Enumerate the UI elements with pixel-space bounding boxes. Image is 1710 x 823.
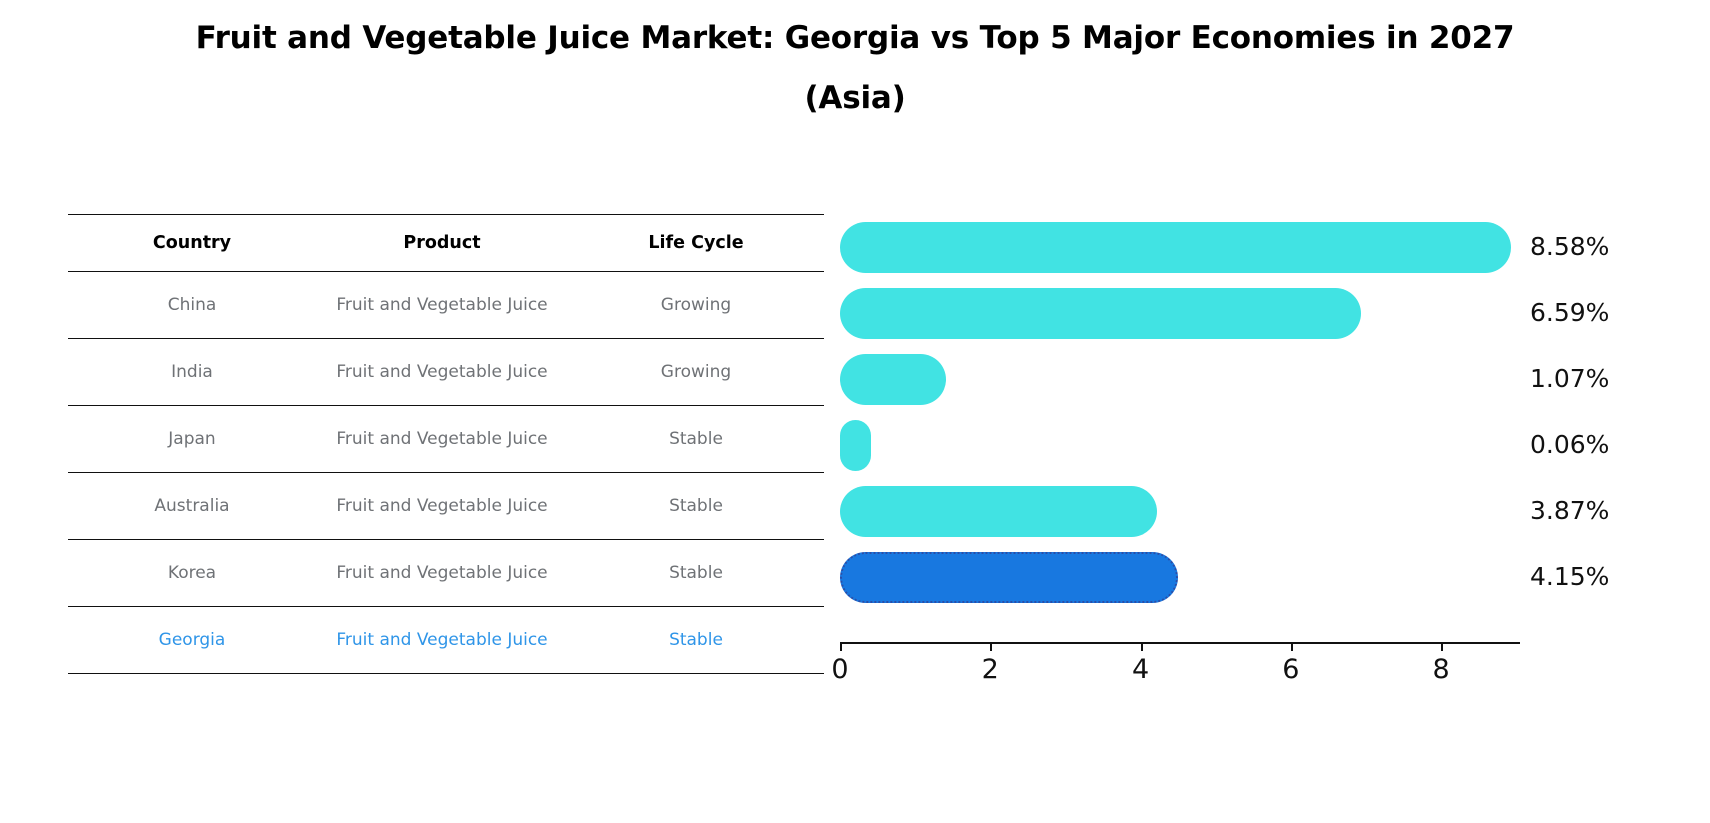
- cell-product: Fruit and Vegetable Juice: [316, 630, 568, 650]
- bar-row: 4.15%: [840, 544, 1710, 610]
- page-title-line-1: Fruit and Vegetable Juice Market: Georgi…: [0, 8, 1710, 68]
- table-row[interactable]: China Fruit and Vegetable Juice Growing: [68, 272, 824, 338]
- x-axis: 02468: [840, 642, 1520, 702]
- cell-life-cycle: Stable: [568, 630, 824, 650]
- country-table: Country Product Life Cycle China Fruit a…: [68, 214, 824, 674]
- bar[interactable]: [840, 420, 871, 471]
- bar-row: 0.06%: [840, 412, 1710, 478]
- bar-value-label: 3.87%: [1530, 478, 1609, 544]
- cell-country: Australia: [68, 496, 316, 516]
- column-header-country: Country: [68, 233, 316, 253]
- x-axis-tick-label: 6: [1282, 654, 1299, 685]
- cell-product: Fruit and Vegetable Juice: [316, 429, 568, 449]
- x-axis-tick-label: 4: [1132, 654, 1149, 685]
- page-title: Fruit and Vegetable Juice Market: Georgi…: [0, 8, 1710, 128]
- x-axis-tick: [1291, 642, 1293, 651]
- cell-life-cycle: Growing: [568, 295, 824, 315]
- cell-product: Fruit and Vegetable Juice: [316, 295, 568, 315]
- bar-value-label: 1.07%: [1530, 346, 1609, 412]
- bar-row: 3.87%: [840, 478, 1710, 544]
- x-axis-tick: [1441, 642, 1443, 651]
- x-axis-tick: [1141, 642, 1143, 651]
- cell-life-cycle: Stable: [568, 563, 824, 583]
- x-axis-tick-label: 2: [982, 654, 999, 685]
- bar[interactable]: [840, 486, 1157, 537]
- cell-life-cycle: Stable: [568, 429, 824, 449]
- bar-value-label: 8.58%: [1530, 214, 1609, 280]
- bar[interactable]: [840, 222, 1511, 273]
- cell-country: Japan: [68, 429, 316, 449]
- bar-value-label: 0.06%: [1530, 412, 1609, 478]
- table-row[interactable]: Australia Fruit and Vegetable Juice Stab…: [68, 473, 824, 539]
- bar-chart: 8.58%6.59%1.07%0.06%3.87%4.15% 02468: [840, 214, 1640, 684]
- x-axis-line: [840, 642, 1520, 644]
- table-row-highlighted[interactable]: Georgia Fruit and Vegetable Juice Stable: [68, 607, 824, 673]
- bar-value-label: 6.59%: [1530, 280, 1609, 346]
- bar[interactable]: [840, 288, 1361, 339]
- cell-country: China: [68, 295, 316, 315]
- cell-country: India: [68, 362, 316, 382]
- cell-life-cycle: Stable: [568, 496, 824, 516]
- x-axis-tick-label: 8: [1433, 654, 1450, 685]
- table-row[interactable]: Japan Fruit and Vegetable Juice Stable: [68, 406, 824, 472]
- cell-product: Fruit and Vegetable Juice: [316, 563, 568, 583]
- table-row[interactable]: India Fruit and Vegetable Juice Growing: [68, 339, 824, 405]
- x-axis-tick-label: 0: [831, 654, 848, 685]
- cell-life-cycle: Growing: [568, 362, 824, 382]
- bar-row: 8.58%: [840, 214, 1710, 280]
- bar-value-label: 4.15%: [1530, 544, 1609, 610]
- column-header-product: Product: [316, 233, 568, 253]
- table-row[interactable]: Korea Fruit and Vegetable Juice Stable: [68, 540, 824, 606]
- cell-product: Fruit and Vegetable Juice: [316, 362, 568, 382]
- bar-row: 1.07%: [840, 346, 1710, 412]
- cell-country: Korea: [68, 563, 316, 583]
- bar[interactable]: [840, 354, 946, 405]
- bar-row: 6.59%: [840, 280, 1710, 346]
- table-bottom-rule: [68, 673, 824, 674]
- table-header-row: Country Product Life Cycle: [68, 215, 824, 271]
- page-title-line-2: (Asia): [0, 68, 1710, 128]
- bar-highlighted[interactable]: [840, 552, 1178, 603]
- x-axis-tick: [840, 642, 842, 651]
- plot-area: 8.58%6.59%1.07%0.06%3.87%4.15%: [840, 214, 1520, 644]
- cell-country: Georgia: [68, 630, 316, 650]
- column-header-life-cycle: Life Cycle: [568, 233, 824, 253]
- x-axis-tick: [990, 642, 992, 651]
- cell-product: Fruit and Vegetable Juice: [316, 496, 568, 516]
